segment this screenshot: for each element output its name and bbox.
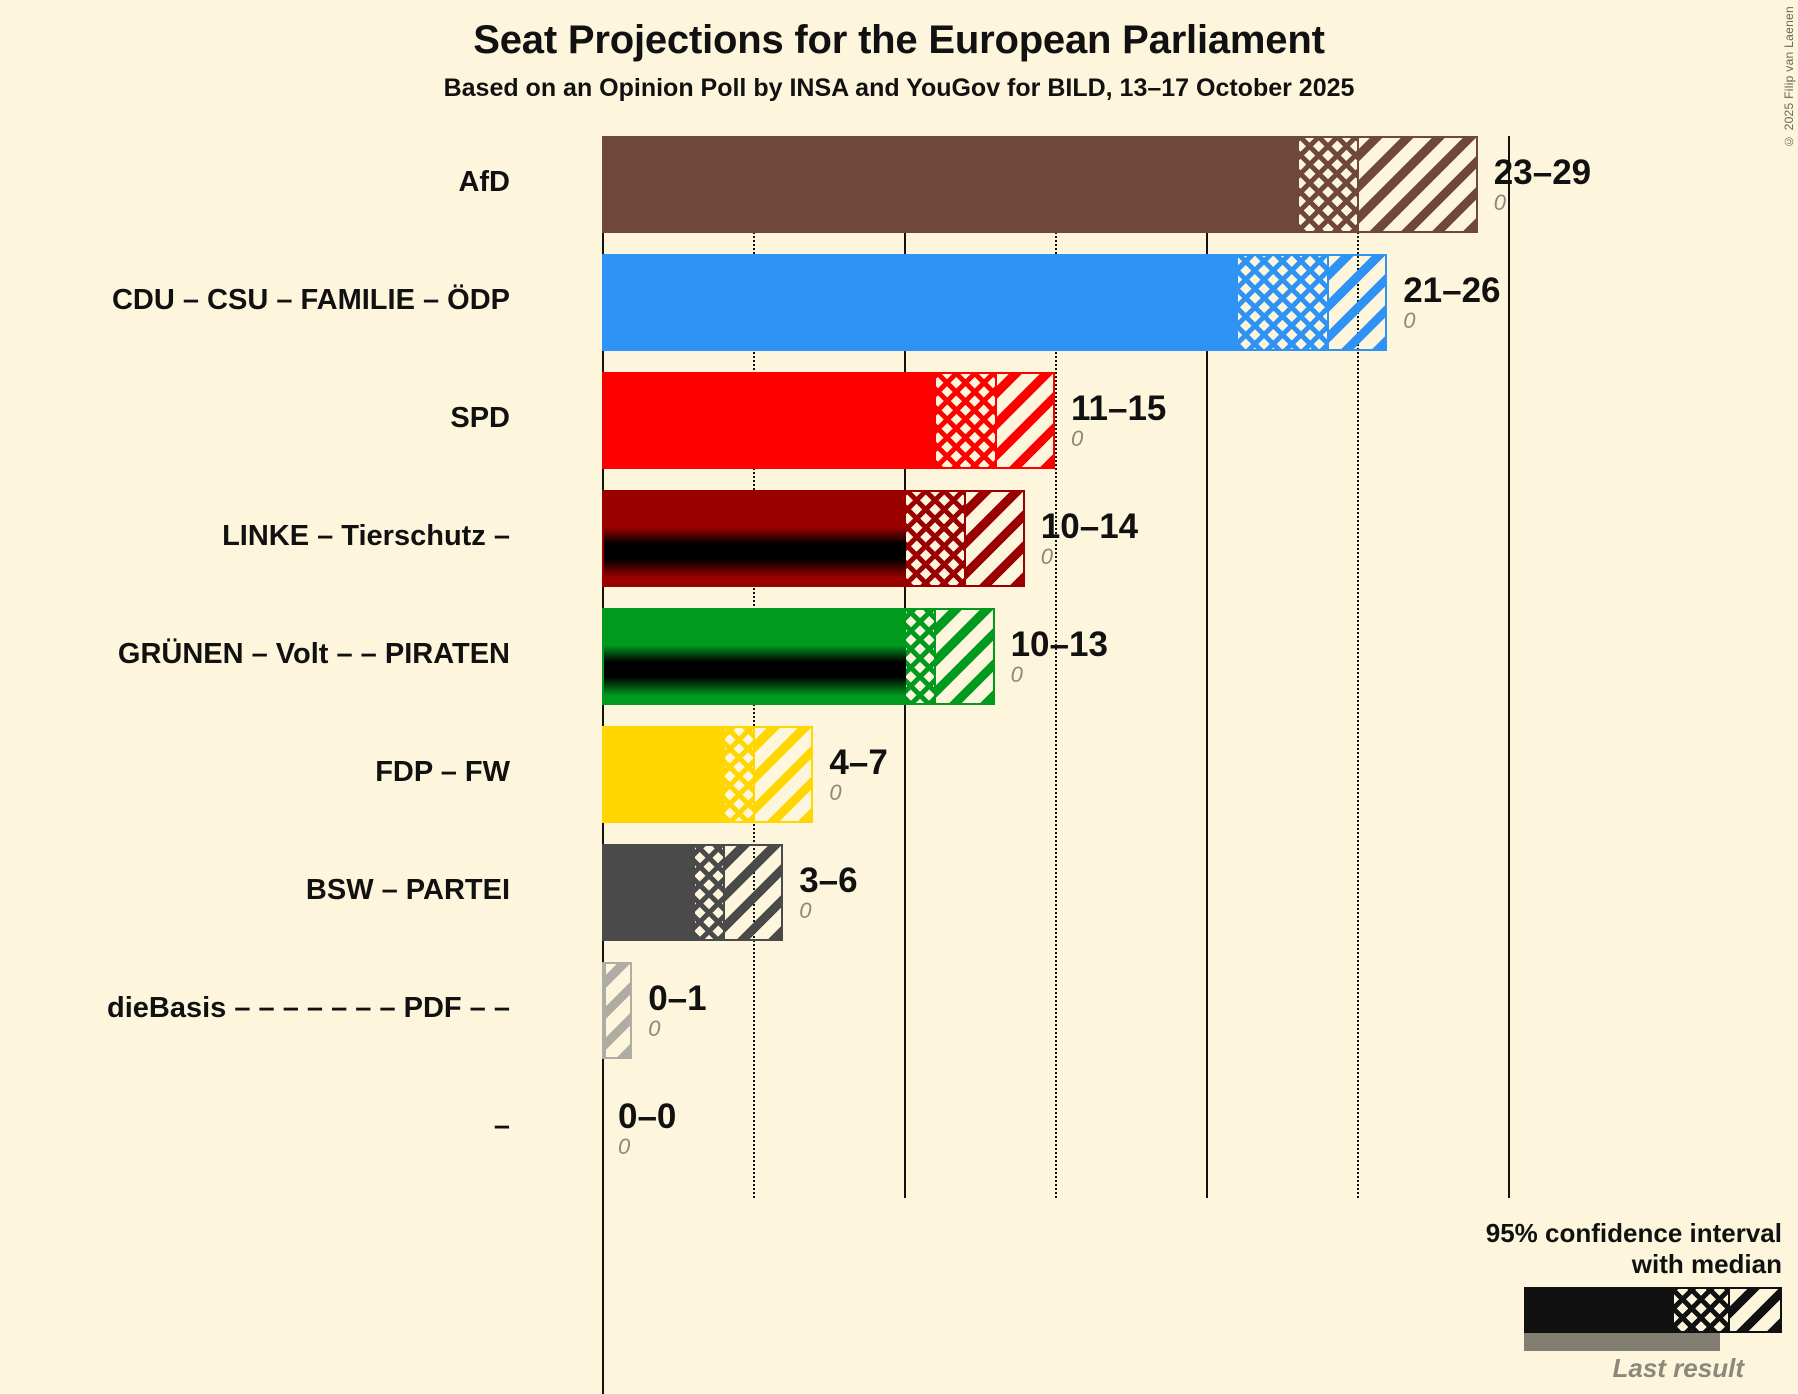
- bar-row: SPD11–150: [602, 372, 1722, 469]
- row-label: FDP – FW: [0, 756, 510, 789]
- bar-segment-solid: [604, 492, 906, 585]
- bar-row: LINKE – Tierschutz –10–140: [602, 490, 1722, 587]
- confidence-interval-bar: [602, 726, 813, 823]
- row-label: dieBasis – – – – – – – PDF – –: [0, 992, 510, 1025]
- confidence-interval-value: 11–15: [1071, 389, 1166, 429]
- bar-row: GRÜNEN – Volt – – PIRATEN10–130: [602, 608, 1722, 705]
- bar-row: AfD23–290: [602, 136, 1722, 233]
- copyright-notice: © 2025 Filip van Laenen: [1782, 6, 1796, 148]
- chart-subtitle: Based on an Opinion Poll by INSA and You…: [0, 74, 1798, 103]
- legend-diagonal-segment: [1730, 1289, 1780, 1331]
- confidence-interval-bar: [602, 254, 1387, 351]
- confidence-interval-value: 23–29: [1494, 153, 1591, 193]
- row-label: GRÜNEN – Volt – – PIRATEN: [0, 638, 510, 671]
- legend-sample-bar: [1524, 1287, 1782, 1333]
- confidence-interval-bar: [602, 962, 632, 1059]
- value-label-group: 0–10: [648, 979, 706, 1041]
- plot-area: AfD23–290CDU – CSU – FAMILIE – ÖDP21–260…: [602, 136, 1722, 1198]
- confidence-interval-bar: [602, 136, 1478, 233]
- bar-segment-crosshatch: [906, 610, 936, 703]
- confidence-interval-value: 0–0: [618, 1097, 676, 1137]
- bar-segment-crosshatch: [1299, 138, 1359, 231]
- bar-segment-crosshatch: [1238, 256, 1329, 349]
- bar-segment-crosshatch: [936, 374, 996, 467]
- confidence-interval-bar: [602, 608, 995, 705]
- last-result-value: 0: [799, 899, 857, 923]
- value-label-group: 21–260: [1403, 271, 1500, 333]
- row-label: –: [0, 1110, 510, 1143]
- legend: 95% confidence interval with median Last…: [1342, 1218, 1782, 1384]
- bar-segment-diagonal: [606, 964, 630, 1057]
- row-label: AfD: [0, 166, 510, 199]
- bar-row: CDU – CSU – FAMILIE – ÖDP21–260: [602, 254, 1722, 351]
- bar-segment-crosshatch: [695, 846, 725, 939]
- legend-last-result-label: Last result: [1342, 1353, 1744, 1384]
- value-label-group: 11–150: [1071, 389, 1166, 451]
- confidence-interval-bar: [602, 372, 1055, 469]
- value-label-group: 4–70: [829, 743, 887, 805]
- bar-segment-solid: [604, 256, 1238, 349]
- confidence-interval-value: 4–7: [829, 743, 887, 783]
- bar-row: –0–00: [602, 1080, 1722, 1177]
- bar-segment-solid: [604, 374, 936, 467]
- bar-segment-crosshatch: [906, 492, 966, 585]
- value-label-group: 23–290: [1494, 153, 1591, 215]
- last-result-value: 0: [1403, 309, 1500, 333]
- confidence-interval-value: 10–14: [1041, 507, 1138, 547]
- row-label: SPD: [0, 402, 510, 435]
- confidence-interval-value: 3–6: [799, 861, 857, 901]
- confidence-interval-value: 0–1: [648, 979, 706, 1019]
- last-result-value: 0: [618, 1135, 676, 1159]
- legend-last-result-bar: [1524, 1333, 1720, 1351]
- legend-crosshatch-segment: [1674, 1289, 1730, 1331]
- bar-segment-diagonal: [997, 374, 1053, 467]
- seat-projection-chart: Seat Projections for the European Parlia…: [0, 0, 1798, 1394]
- last-result-value: 0: [1494, 191, 1591, 215]
- confidence-interval-value: 10–13: [1011, 625, 1108, 665]
- bar-segment-diagonal: [936, 610, 992, 703]
- row-label: CDU – CSU – FAMILIE – ÖDP: [0, 284, 510, 317]
- bar-segment-solid: [604, 610, 906, 703]
- last-result-value: 0: [1041, 545, 1138, 569]
- value-label-group: 3–60: [799, 861, 857, 923]
- bar-row: BSW – PARTEI3–60: [602, 844, 1722, 941]
- confidence-interval-bar: [602, 490, 1025, 587]
- bar-segment-solid: [604, 728, 725, 821]
- bar-segment-solid: [604, 846, 695, 939]
- confidence-interval-value: 21–26: [1403, 271, 1500, 311]
- row-label: LINKE – Tierschutz –: [0, 520, 510, 553]
- last-result-value: 0: [648, 1017, 706, 1041]
- bar-row: FDP – FW4–70: [602, 726, 1722, 823]
- legend-solid-segment: [1526, 1289, 1674, 1331]
- bar-row: dieBasis – – – – – – – PDF – –0–10: [602, 962, 1722, 1059]
- bar-segment-solid: [604, 138, 1299, 231]
- bar-segment-diagonal: [725, 846, 781, 939]
- page-title: Seat Projections for the European Parlia…: [0, 18, 1798, 63]
- row-label: BSW – PARTEI: [0, 874, 510, 907]
- bar-segment-diagonal: [1359, 138, 1476, 231]
- confidence-interval-bar: [602, 844, 783, 941]
- value-label-group: 0–00: [618, 1097, 676, 1159]
- bar-segment-diagonal: [966, 492, 1022, 585]
- last-result-value: 0: [1071, 427, 1166, 451]
- legend-title-line2: with median: [1342, 1249, 1782, 1280]
- last-result-value: 0: [829, 781, 887, 805]
- value-label-group: 10–130: [1011, 625, 1108, 687]
- bar-segment-diagonal: [755, 728, 811, 821]
- bar-segment-diagonal: [1329, 256, 1385, 349]
- last-result-value: 0: [1011, 663, 1108, 687]
- value-label-group: 10–140: [1041, 507, 1138, 569]
- bar-segment-crosshatch: [725, 728, 755, 821]
- legend-title-line1: 95% confidence interval: [1342, 1218, 1782, 1249]
